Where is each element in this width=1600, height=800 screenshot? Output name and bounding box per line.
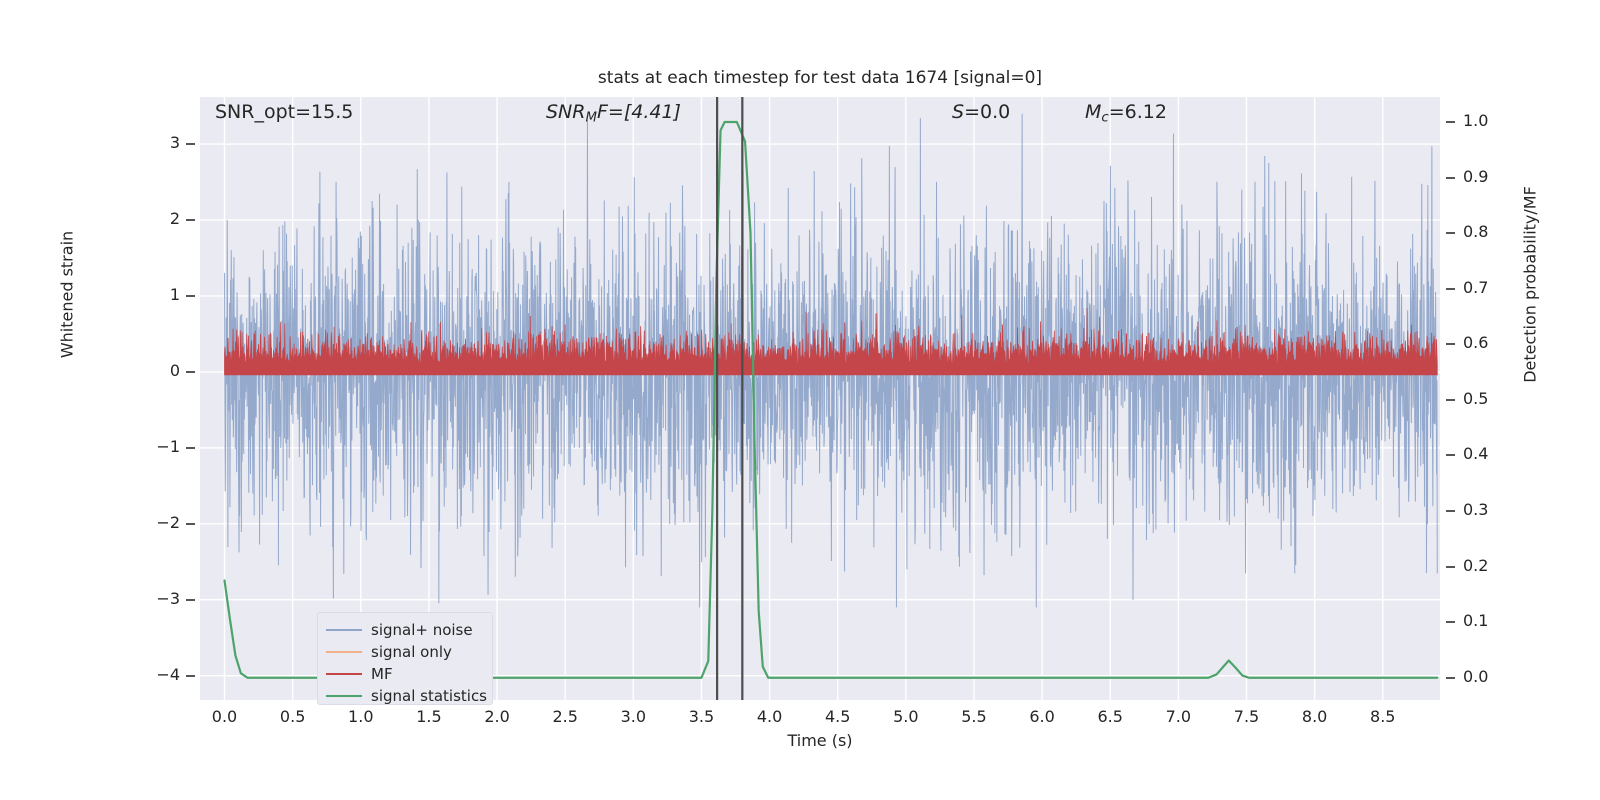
annotation-s-stat: S=0.0 <box>952 101 1010 123</box>
y-tick-mark-right <box>1446 288 1455 290</box>
x-tick-label: 8.0 <box>1285 707 1345 726</box>
y-tick-mark-right <box>1446 343 1455 345</box>
y-tick-label-right: 0.3 <box>1463 500 1523 519</box>
y-tick-mark-right <box>1446 177 1455 179</box>
y-tick-mark-left <box>186 447 195 449</box>
y-tick-mark-left <box>186 219 195 221</box>
legend-item-label: signal only <box>371 643 452 661</box>
x-tick-label: 1.5 <box>399 707 459 726</box>
y-tick-mark-right <box>1446 621 1455 623</box>
y-tick-mark-right <box>1446 510 1455 512</box>
annotation-snr-opt: SNR_opt=15.5 <box>215 101 353 123</box>
legend-item[interactable]: signal+ noise <box>326 619 473 641</box>
legend-item[interactable]: signal only <box>326 641 452 663</box>
x-tick-label: 1.0 <box>331 707 391 726</box>
x-tick-label: 8.5 <box>1353 707 1413 726</box>
y-tick-mark-left <box>186 143 195 145</box>
y-tick-mark-left <box>186 295 195 297</box>
plot-area <box>200 97 1440 700</box>
x-tick-label: 3.5 <box>671 707 731 726</box>
legend-box: signal+ noisesignal onlyMFsignal statist… <box>317 612 493 705</box>
y-tick-mark-right <box>1446 121 1455 123</box>
x-tick-label: 7.5 <box>1217 707 1277 726</box>
x-tick-label: 5.0 <box>876 707 936 726</box>
annotation-chirp-mass: Mc=6.12 <box>1085 101 1167 125</box>
y-tick-label-right: 0.1 <box>1463 611 1523 630</box>
legend-item-label: MF <box>371 665 393 683</box>
legend-item-label: signal+ noise <box>371 621 473 639</box>
x-axis-label: Time (s) <box>200 731 1440 750</box>
y-tick-label-right: 0.6 <box>1463 333 1523 352</box>
y-tick-label-right: 1.0 <box>1463 111 1523 130</box>
y-tick-mark-left <box>186 523 195 525</box>
annotation-snr-mf: SNRMF=[4.41] <box>546 101 681 125</box>
y-tick-mark-left <box>186 675 195 677</box>
y-tick-mark-right <box>1446 677 1455 679</box>
y-tick-label-right: 0.8 <box>1463 222 1523 241</box>
legend-item[interactable]: MF <box>326 663 393 685</box>
y-tick-label-left: −3 <box>134 589 180 608</box>
y-tick-label-right: 0.2 <box>1463 556 1523 575</box>
legend-color-swatch <box>326 651 362 653</box>
legend-item-label: signal statistics <box>371 687 487 705</box>
x-tick-label: 0.5 <box>263 707 323 726</box>
x-tick-label: 2.5 <box>535 707 595 726</box>
x-tick-label: 2.0 <box>467 707 527 726</box>
page-title: stats at each timestep for test data 167… <box>200 68 1440 88</box>
y-tick-label-left: 2 <box>134 209 180 228</box>
y-tick-label-right: 0.0 <box>1463 667 1523 686</box>
y-tick-label-left: 1 <box>134 285 180 304</box>
plot-canvas <box>200 97 1440 700</box>
x-tick-label: 3.0 <box>603 707 663 726</box>
legend-color-swatch <box>326 629 362 631</box>
y-tick-mark-left <box>186 371 195 373</box>
legend-item[interactable]: signal statistics <box>326 685 487 707</box>
y-tick-label-right: 0.9 <box>1463 167 1523 186</box>
y-tick-label-right: 0.4 <box>1463 444 1523 463</box>
y-tick-mark-right <box>1446 454 1455 456</box>
figure-canvas: stats at each timestep for test data 167… <box>0 0 1600 800</box>
legend-color-swatch <box>326 673 362 675</box>
x-tick-label: 6.5 <box>1080 707 1140 726</box>
y-tick-mark-right <box>1446 399 1455 401</box>
x-tick-label: 7.0 <box>1148 707 1208 726</box>
x-tick-label: 0.0 <box>195 707 255 726</box>
y-tick-label-left: −4 <box>134 665 180 684</box>
x-tick-label: 4.5 <box>808 707 868 726</box>
y-axis-left-label: Whitened strain <box>58 185 77 405</box>
legend-color-swatch <box>326 695 362 697</box>
y-tick-label-left: 0 <box>134 361 180 380</box>
y-tick-label-left: −1 <box>134 437 180 456</box>
x-tick-label: 5.5 <box>944 707 1004 726</box>
y-tick-label-left: −2 <box>134 513 180 532</box>
x-tick-label: 6.0 <box>1012 707 1072 726</box>
y-tick-mark-right <box>1446 232 1455 234</box>
x-tick-label: 4.0 <box>740 707 800 726</box>
y-tick-mark-left <box>186 599 195 601</box>
y-tick-mark-right <box>1446 566 1455 568</box>
y-tick-label-right: 0.5 <box>1463 389 1523 408</box>
y-tick-label-right: 0.7 <box>1463 278 1523 297</box>
y-tick-label-left: 3 <box>134 133 180 152</box>
y-axis-right-label: Detection probability/MF <box>1521 135 1540 435</box>
